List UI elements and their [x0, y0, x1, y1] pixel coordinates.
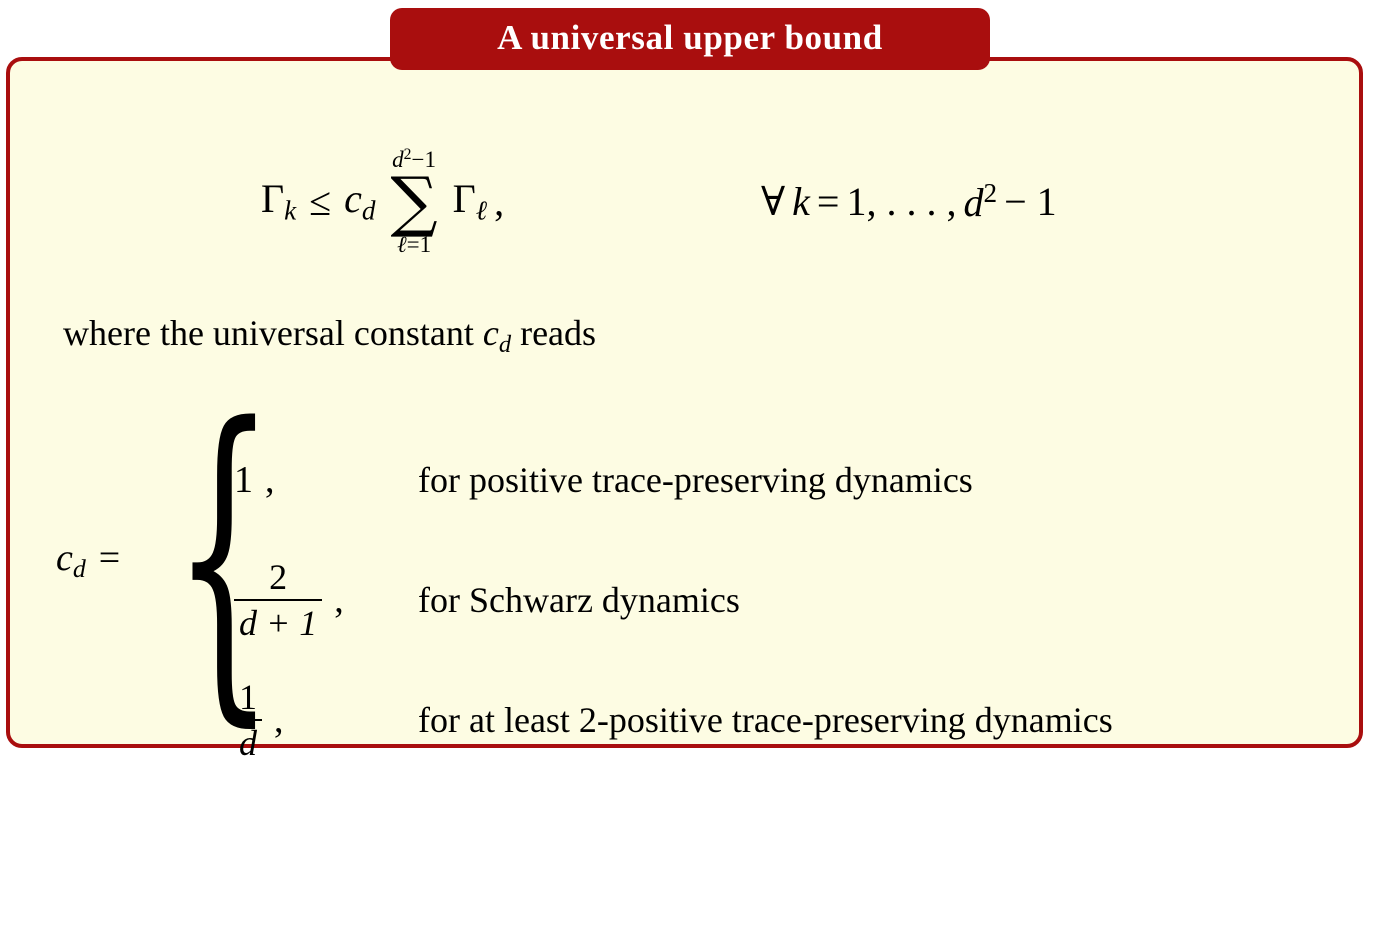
case-value-fraction: 1 d	[234, 678, 262, 763]
fraction-numerator: 2	[264, 558, 292, 599]
cases-constant-c: c	[56, 537, 73, 579]
cases-brace-icon: {	[172, 169, 220, 944]
sum-lower-limit: ℓ=1	[397, 233, 431, 257]
case-value-comma: ,	[274, 698, 284, 742]
prose-constant-c: c	[483, 313, 499, 353]
relation-symbol: ≤	[309, 182, 331, 222]
summation-operator: d2−1 ∑ ℓ=1	[391, 147, 438, 257]
prose-line-lead: where the universal constant	[63, 313, 483, 353]
cases-constant-subscript: d	[73, 554, 86, 583]
sigma-icon: ∑	[391, 172, 438, 233]
prose-constant-subscript: d	[499, 331, 511, 358]
case-value: 2 d + 1 ,	[216, 558, 416, 643]
quantifier-dots: , . . . ,	[866, 182, 956, 222]
case-value: 1 d ,	[216, 678, 416, 763]
gamma-lhs-subscript: k	[284, 196, 296, 226]
forall-icon: ∀	[761, 182, 785, 222]
equation-summand: Γℓ	[453, 179, 487, 225]
case-value-plain: 1	[234, 458, 253, 502]
case-value: 1 ,	[216, 458, 416, 502]
quantifier-index: k	[792, 182, 810, 222]
block-title-tab: A universal upper bound	[390, 8, 990, 70]
cases-equals: =	[99, 537, 120, 579]
fraction-denominator: d	[234, 719, 262, 763]
equation-inequality: Γk ≤ cd d2−1 ∑ ℓ=1 Γℓ ,	[261, 127, 504, 277]
equation-quantifier-clause: ∀ k = 1 , . . . , d2 − 1	[761, 127, 1057, 277]
cases-lhs: cd=	[56, 539, 120, 582]
case-value-fraction: 2 d + 1	[234, 558, 322, 643]
quantifier-end-exponent: 2	[983, 178, 997, 208]
case-value-comma: ,	[334, 578, 344, 622]
quantifier-range-start: 1	[846, 182, 866, 222]
fraction-denominator: d + 1	[234, 599, 322, 643]
equation-trailing-comma: ,	[494, 182, 504, 222]
case-description: for at least 2-positive trace-preserving…	[416, 702, 1113, 738]
constant-c-d: cd	[344, 179, 375, 225]
prose-line-tail: reads	[511, 313, 596, 353]
case-description: for Schwarz dynamics	[416, 582, 740, 618]
cases-block: cd= { 1 , for positive trace-preserving …	[56, 387, 1346, 727]
constant-subscript-d: d	[362, 196, 376, 226]
quantifier-end-base: d	[963, 181, 983, 226]
quantifier-equals: =	[817, 182, 840, 222]
fraction-numerator: 1	[234, 678, 262, 719]
prose-constant: cd	[483, 313, 511, 353]
equation-lhs: Γk	[261, 179, 296, 225]
gamma-symbol-summand: Γ	[453, 176, 476, 221]
case-value-comma: ,	[265, 458, 275, 502]
quantifier-end-tail: − 1	[1004, 182, 1057, 222]
gamma-summand-subscript: ℓ	[476, 196, 487, 226]
quantifier-range-end: d2	[963, 180, 997, 223]
case-row: 2 d + 1 , for Schwarz dynamics	[216, 545, 1336, 655]
prose-line: where the universal constant cd reads	[63, 315, 596, 357]
gamma-symbol-lhs: Γ	[261, 176, 284, 221]
block-title-text: A universal upper bound	[497, 20, 883, 58]
constant-c: c	[344, 176, 362, 221]
case-description: for positive trace-preserving dynamics	[416, 462, 973, 498]
case-row: 1 , for positive trace-preserving dynami…	[216, 425, 1336, 535]
block-content: Γk ≤ cd d2−1 ∑ ℓ=1 Γℓ , ∀ k = 1 , . . .	[6, 57, 1363, 748]
